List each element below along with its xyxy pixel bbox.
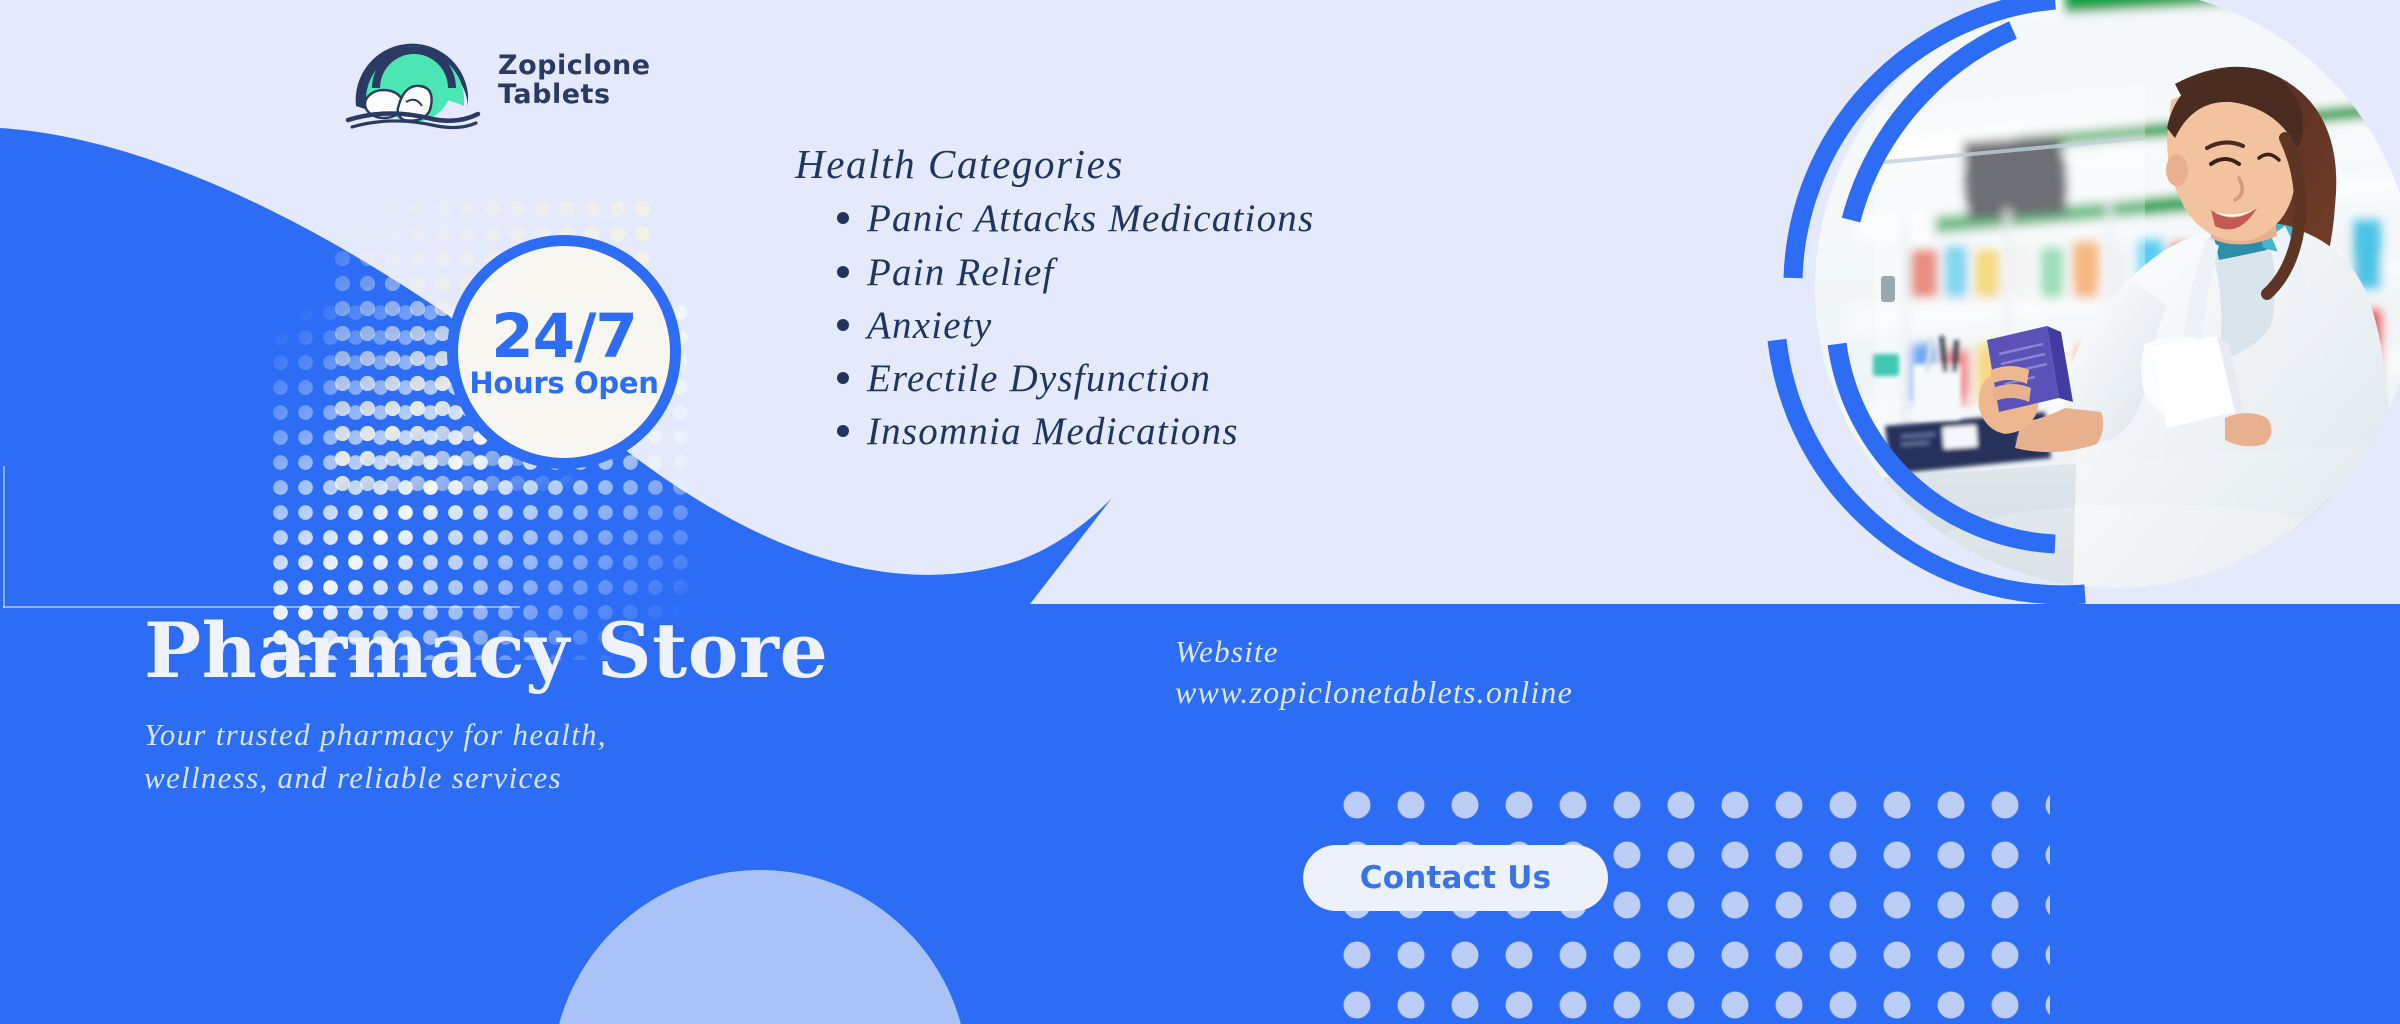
badge-subtitle: Hours Open — [469, 369, 658, 398]
list-item: Erectile Dysfunction — [837, 352, 1515, 405]
website-block: Website www.zopiclonetablets.online — [1175, 632, 1573, 713]
badge-number: 24/7 — [491, 306, 637, 367]
pharmacist-photo — [1815, 0, 2400, 588]
frame-line-vertical — [3, 466, 5, 608]
contact-us-button[interactable]: Contact Us — [1303, 845, 1608, 911]
logo-line-1: Zopiclone — [498, 52, 651, 80]
health-categories-title: Health Categories — [795, 138, 1515, 190]
pharmacist-photo-block — [1755, 0, 2400, 608]
list-item: Panic Attacks Medications — [837, 192, 1515, 245]
brand-logo[interactable]: Zopiclone Tablets — [338, 28, 638, 133]
pharmacy-promo-banner: Zopiclone Tablets 24/7 Hours Open Health… — [0, 0, 2400, 1024]
headline-block: Pharmacy Store Your trusted pharmacy for… — [144, 610, 1044, 800]
website-label: Website — [1175, 632, 1573, 672]
list-item: Insomnia Medications — [837, 405, 1515, 458]
list-item: Pain Relief — [837, 246, 1515, 299]
sleeping-person-crescent-icon — [338, 28, 488, 133]
health-categories-list: Panic Attacks Medications Pain Relief An… — [795, 192, 1515, 457]
logo-line-2: Tablets — [498, 81, 651, 109]
page-title: Pharmacy Store — [144, 610, 1044, 692]
health-categories-block: Health Categories Panic Attacks Medicati… — [795, 138, 1515, 458]
tagline: Your trusted pharmacy for health, wellne… — [144, 714, 734, 800]
hours-open-badge: 24/7 Hours Open — [447, 235, 681, 469]
list-item: Anxiety — [837, 299, 1515, 352]
website-url[interactable]: www.zopiclonetablets.online — [1175, 672, 1573, 713]
